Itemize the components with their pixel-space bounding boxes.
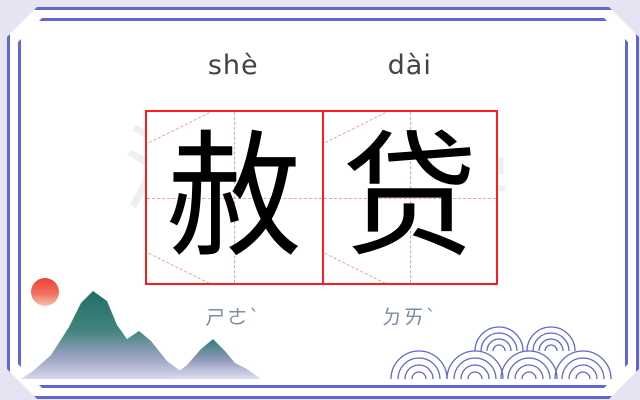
- sun-icon: [31, 278, 59, 306]
- wave-arc-group: [527, 327, 575, 351]
- card-content-stage: 漢語詞學 shè dài 赦 贷 ㄕㄜˋ: [21, 21, 619, 379]
- tianzige-grid: 赦 贷: [145, 110, 498, 285]
- wave-arc-group: [555, 351, 611, 379]
- tianzige-cell-2[interactable]: 贷: [322, 112, 497, 283]
- hanzi-char-2: 贷: [324, 112, 497, 283]
- tianzige-cell-1[interactable]: 赦: [147, 112, 322, 283]
- hanzi-char-1: 赦: [147, 112, 322, 283]
- pinyin-char-1: shè: [145, 50, 322, 81]
- mountain-landscape-illustration: [21, 269, 321, 379]
- wave-arc-group: [475, 327, 523, 351]
- mountain-small: [169, 339, 261, 379]
- wave-arc-group: [501, 351, 557, 379]
- wave-arc-group: [447, 351, 503, 379]
- wave-arc-group: [391, 351, 447, 379]
- pinyin-char-2: dài: [322, 50, 499, 81]
- wave-pattern-illustration: [389, 289, 619, 379]
- flashcard-root: 漢語詞學 shè dài 赦 贷 ㄕㄜˋ: [0, 0, 640, 400]
- pinyin-row: shè dài: [145, 50, 498, 81]
